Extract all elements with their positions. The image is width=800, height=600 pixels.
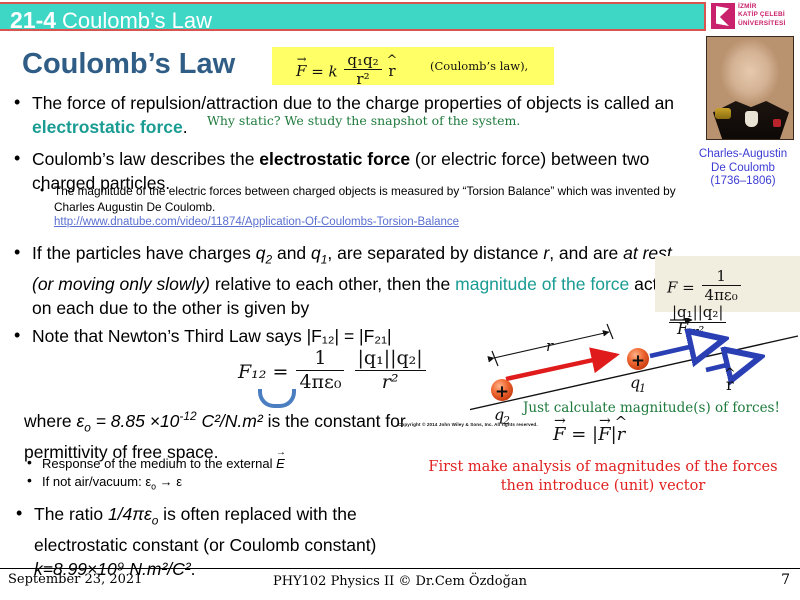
torsion-balance-link[interactable]: http://www.dnatube.com/video/11874/Appli… (54, 215, 696, 230)
mini-bullet-1-text: Response of the medium to the external (42, 456, 276, 471)
f12-num2: |q₁||q₂| (355, 348, 426, 370)
bullet-3-pre: If the particles have charges (32, 243, 256, 263)
coulomb-portrait (706, 36, 794, 140)
footer-course: PHY102 Physics II © Dr.Cem Özdoğan (0, 574, 800, 589)
where-pre: where (24, 411, 77, 431)
portrait-medal (773, 119, 781, 127)
law-box-note: (Coulomb’s law), (430, 59, 528, 73)
diagram-copyright: Copyright © 2014 John Wiley & Sons, Inc.… (398, 422, 538, 427)
r-tick-right (607, 324, 613, 339)
header-underline (0, 31, 706, 34)
sub-bullet-group: The magnitude of the electric forces bet… (36, 184, 696, 230)
portrait-image (706, 36, 794, 140)
mini-bullet-2-text: If not air/vacuum: ε (42, 474, 151, 489)
bullet-3-post: , are separated by distance (327, 243, 543, 263)
bullet-3-line2a: , and are (549, 243, 623, 263)
footer-divider (0, 568, 800, 569)
permittivity-formula-box: F = 14πε₀ |q₁||q₂|r² (655, 256, 800, 312)
bullet-3-q1: q (311, 243, 321, 263)
page-title: Coulomb’s Law (22, 48, 235, 81)
f12-equation: F₁₂ = 14πε₀ |q₁||q₂|r² (238, 348, 428, 394)
red-annotation-line1: First make analysis of magnitudes of the (428, 459, 727, 475)
slide-canvas: 21-4 Coulomb’s Law İZMİR KATİP ÇELEBİ ÜN… (0, 0, 800, 600)
r-tick-left (492, 351, 498, 366)
bullet-1-part1: The force of repulsion/attraction due to… (32, 93, 674, 113)
mini-bullet-1: Response of the medium to the external E (22, 455, 422, 473)
logo-line-3: ÜNİVERSİTESİ (738, 20, 786, 28)
green-annotation-1: Why static? We study the snapshot of the… (207, 113, 520, 128)
law-k: k (329, 62, 338, 80)
footer-page-number: 7 (781, 572, 790, 588)
f12-num1: 1 (296, 348, 344, 370)
f12-den1: 4πε₀ (296, 370, 344, 394)
bullet-1-highlight: electrostatic force (32, 117, 183, 137)
portrait-name-line2: De Coulomb (686, 162, 800, 176)
coulomb-law-equation: F = k q₁q₂r² r (296, 52, 396, 88)
bullet-3-line2b: relative to each other, then the (210, 274, 455, 294)
cream-num1: 1 (702, 268, 741, 285)
charge-q1-sign: + (631, 351, 645, 371)
section-number: 21-4 (10, 7, 56, 34)
mini-bullet-2-rest: → ε (156, 474, 182, 489)
bullet-5-pre: The ratio (34, 504, 108, 524)
sub-bullet-1: The magnitude of the electric forces bet… (36, 184, 696, 215)
force-vector-arrow (650, 340, 720, 356)
bullet-2-part1: Coulomb’s law describes the (32, 149, 259, 169)
r-label: r (546, 337, 554, 355)
university-logo: İZMİR KATİP ÇELEBİ ÜNİVERSİTESİ (707, 1, 799, 31)
unit-vector-hat: ^ (724, 366, 736, 382)
bullet-3-mid: and (272, 243, 311, 263)
mini-bullet-2: If not air/vacuum: εo → ε (22, 473, 422, 496)
logo-line-2: KATİP ÇELEBİ (738, 11, 786, 19)
portrait-years: (1736–1806) (686, 175, 800, 189)
bullet-1-part2: . (183, 117, 188, 137)
where-exp: -12 (179, 409, 196, 423)
header-bar: 21-4 Coulomb’s Law (0, 2, 706, 31)
red-annotation: First make analysis of magnitudes of the… (418, 458, 788, 496)
bullet-3-q2: q (256, 243, 266, 263)
f12-den2: r² (355, 370, 426, 394)
portrait-caption: Charles-Augustin De Coulomb (1736–1806) (686, 148, 800, 189)
portrait-epaulette (715, 108, 731, 119)
cream-lhs: F = (667, 278, 695, 296)
university-logo-text: İZMİR KATİP ÇELEBİ ÜNİVERSİTESİ (738, 3, 786, 28)
bullet-4: Note that Newton’s Third Law says |F₁₂| … (8, 324, 488, 348)
law-num: q₁q₂ (344, 52, 381, 69)
coulomb-law-formula-box: F = k q₁q₂r² r (Coulomb’s law), (272, 47, 554, 85)
bullet-2-bold: electrostatic force (259, 149, 410, 169)
f12-lhs: F₁₂ = (238, 361, 288, 383)
where-eps-sub: o (84, 420, 91, 434)
bullet-3-text: If the particles have charges q2 and q1,… (8, 241, 688, 320)
portrait-cravat (745, 111, 758, 127)
bullet-3: If the particles have charges q2 and q1,… (8, 241, 688, 320)
bullet-5-italic: 1/4πε (108, 504, 152, 524)
bullet-4-text: Note that Newton’s Third Law says |F₁₂| … (8, 324, 488, 348)
vector-force-equation: F = |F|r (553, 424, 625, 445)
mini-bullet-group: Response of the medium to the external E… (22, 455, 422, 496)
charge-q2-sign: + (495, 382, 509, 402)
force-vector-label: F (676, 319, 689, 338)
red-separation-arrow (506, 355, 616, 379)
mini-bullet-1-symbol: E (276, 455, 285, 473)
cream-den1: 4πε₀ (702, 285, 741, 304)
law-den: r² (344, 69, 381, 88)
bullet-3-highlight: magnitude of the force (455, 274, 629, 294)
charge-q1-subscript: 1 (639, 382, 646, 395)
portrait-name-line1: Charles-Augustin (686, 148, 800, 162)
where-val: = 8.85 ×10 (91, 411, 180, 431)
university-logo-icon (711, 3, 735, 29)
where-units: C²/N.m² (197, 411, 263, 431)
